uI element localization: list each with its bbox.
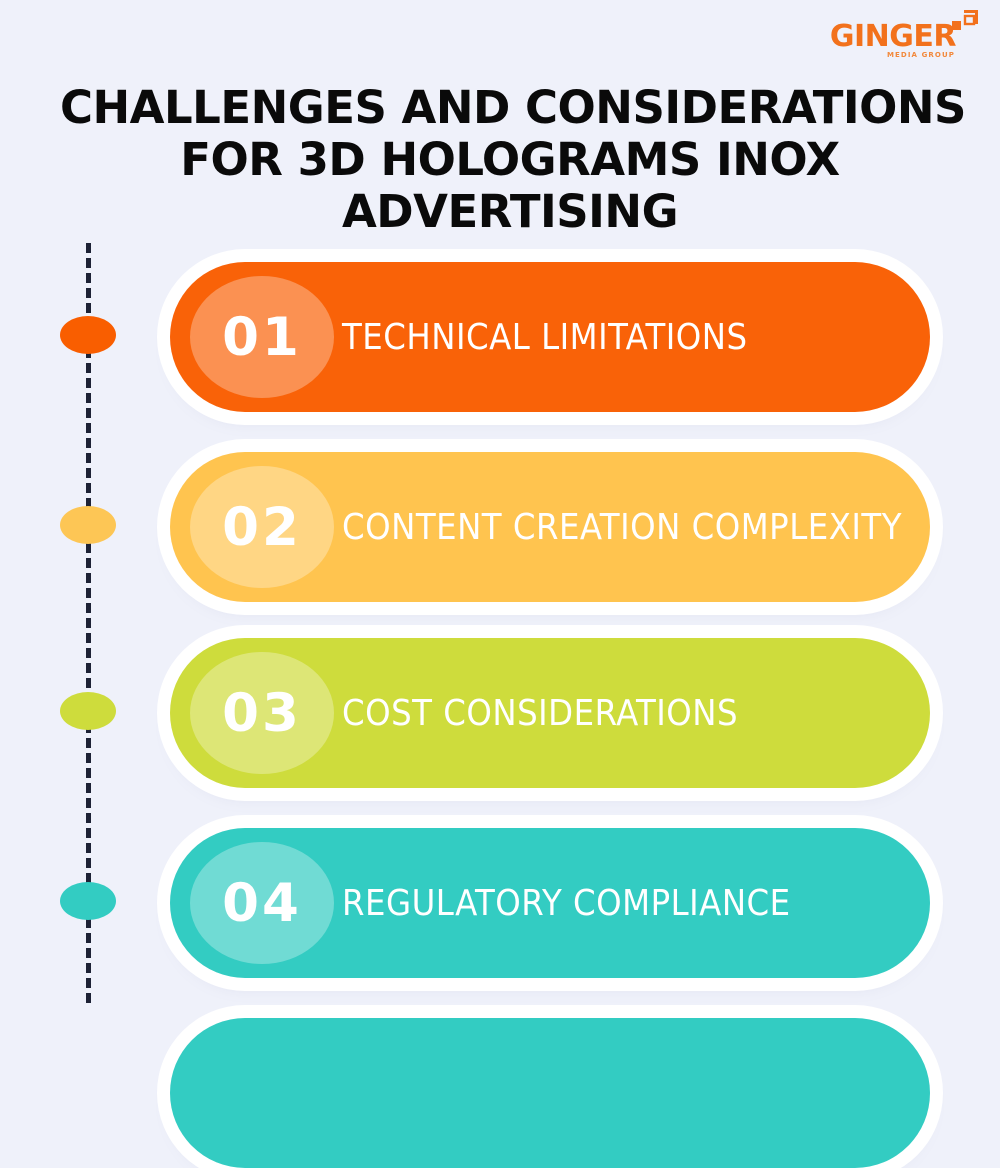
item-number: 01 (190, 276, 334, 398)
brand-logo: GINGER MEDIA GROUP (848, 8, 978, 60)
page-title-line-3: ADVERTISING (60, 186, 960, 238)
list-item[interactable]: 02 CONTENT CREATION COMPLEXITY (170, 452, 930, 602)
item-label: TECHNICAL LIMITATIONS (342, 262, 748, 412)
list-item[interactable]: 03 COST CONSIDERATIONS (170, 638, 930, 788)
logo-tagline: MEDIA GROUP (887, 52, 955, 59)
item-number: 04 (190, 842, 334, 964)
page-title-line-1: CHALLENGES AND CONSIDERATIONS (60, 82, 960, 134)
timeline-dot-03 (60, 692, 116, 730)
timeline-dot-01 (60, 316, 116, 354)
list-item[interactable]: 04 REGULATORY COMPLIANCE (170, 828, 930, 978)
list-item[interactable] (170, 1018, 930, 1168)
item-number: 03 (190, 652, 334, 774)
timeline-dot-02 (60, 506, 116, 544)
logo-wordmark: GINGER (830, 22, 956, 52)
page-title-line-2: FOR 3D HOLOGRAMS INOX (60, 134, 960, 186)
item-number: 02 (190, 466, 334, 588)
item-label: COST CONSIDERATIONS (342, 638, 738, 788)
page-title: CHALLENGES AND CONSIDERATIONS FOR 3D HOL… (60, 82, 960, 239)
timeline-dot-04 (60, 882, 116, 920)
item-label: REGULATORY COMPLIANCE (342, 828, 791, 978)
list-item[interactable]: 01 TECHNICAL LIMITATIONS (170, 262, 930, 412)
item-label: CONTENT CREATION COMPLEXITY (342, 452, 902, 602)
